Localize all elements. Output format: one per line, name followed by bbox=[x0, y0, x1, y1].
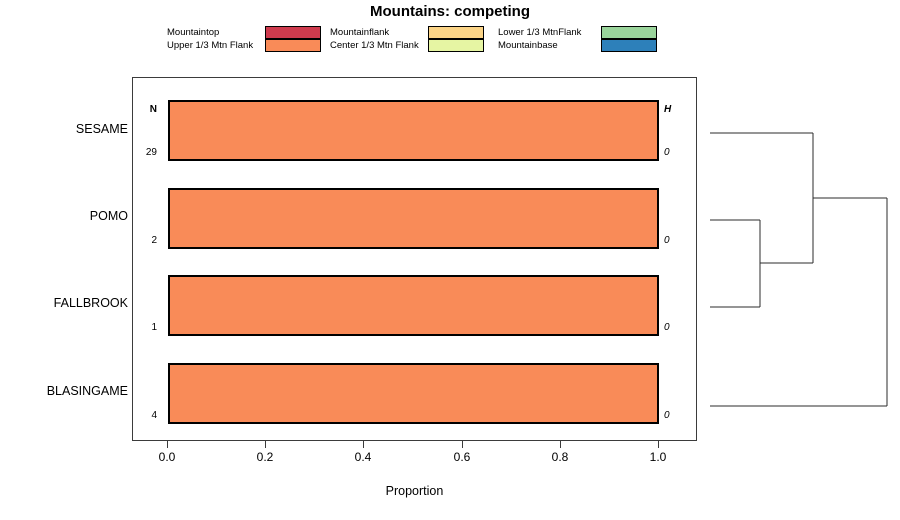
legend-column: Mountainflank Center 1/3 Mtn Flank bbox=[330, 26, 485, 54]
bar-row: N 29 H 0 bbox=[133, 100, 696, 161]
y-axis-label-fallbrook: FALLBROOK bbox=[8, 297, 128, 310]
x-axis-tick bbox=[363, 441, 364, 448]
x-axis-tick bbox=[265, 441, 266, 448]
legend-entry: Center 1/3 Mtn Flank bbox=[330, 39, 485, 52]
legend-entry: Upper 1/3 Mtn Flank bbox=[167, 39, 322, 52]
x-axis-title: Proportion bbox=[132, 484, 697, 498]
legend-entry: Mountaintop bbox=[167, 26, 322, 39]
x-axis-tick bbox=[462, 441, 463, 448]
row-n-value: 4 bbox=[151, 411, 157, 421]
legend-swatch-mountainbase bbox=[601, 39, 657, 52]
bar-sesame[interactable] bbox=[168, 100, 659, 161]
y-axis-label-blasingame: BLASINGAME bbox=[8, 385, 128, 398]
x-axis-tick-label: 0.8 bbox=[540, 450, 580, 464]
bar-row: 2 0 bbox=[133, 188, 696, 249]
x-axis: 0.0 0.2 0.4 0.6 0.8 1.0 bbox=[132, 441, 697, 471]
legend-entry: Mountainbase bbox=[498, 39, 658, 52]
x-axis-tick bbox=[167, 441, 168, 448]
x-axis-tick-label: 0.2 bbox=[245, 450, 285, 464]
x-axis-tick-label: 0.0 bbox=[147, 450, 187, 464]
y-axis-labels: SESAME POMO FALLBROOK BLASINGAME bbox=[4, 77, 128, 441]
bar-row: 4 0 bbox=[133, 363, 696, 424]
row-h-value: 0 bbox=[664, 148, 670, 158]
legend-label: Upper 1/3 Mtn Flank bbox=[167, 39, 253, 52]
legend-label: Mountainbase bbox=[498, 39, 558, 52]
x-axis-tick-label: 1.0 bbox=[638, 450, 678, 464]
legend-label: Lower 1/3 MtnFlank bbox=[498, 26, 581, 39]
row-h-value: 0 bbox=[664, 411, 670, 421]
row-n-value: 1 bbox=[151, 323, 157, 333]
dendrogram bbox=[700, 77, 900, 441]
legend-swatch-center-third-mtn-flank bbox=[428, 39, 484, 52]
legend-column: Mountaintop Upper 1/3 Mtn Flank bbox=[167, 26, 322, 54]
legend-column: Lower 1/3 MtnFlank Mountainbase bbox=[498, 26, 658, 54]
y-axis-label-pomo: POMO bbox=[8, 210, 128, 223]
legend-swatch-lower-third-mtnflank bbox=[601, 26, 657, 39]
legend-swatch-mountainflank bbox=[428, 26, 484, 39]
legend-label: Center 1/3 Mtn Flank bbox=[330, 39, 419, 52]
column-header-h: H bbox=[664, 105, 671, 115]
x-axis-tick-label: 0.4 bbox=[343, 450, 383, 464]
row-n-value: 29 bbox=[146, 148, 157, 158]
row-n-value: 2 bbox=[151, 236, 157, 246]
row-h-value: 0 bbox=[664, 236, 670, 246]
legend-swatch-upper-third-mtn-flank bbox=[265, 39, 321, 52]
bar-fallbrook[interactable] bbox=[168, 275, 659, 336]
page-title: Mountains: competing bbox=[0, 3, 900, 20]
legend-label: Mountainflank bbox=[330, 26, 389, 39]
legend-entry: Mountainflank bbox=[330, 26, 485, 39]
bar-blasingame[interactable] bbox=[168, 363, 659, 424]
legend-entry: Lower 1/3 MtnFlank bbox=[498, 26, 658, 39]
x-axis-tick bbox=[658, 441, 659, 448]
legend-label: Mountaintop bbox=[167, 26, 219, 39]
row-h-value: 0 bbox=[664, 323, 670, 333]
x-axis-tick-label: 0.6 bbox=[442, 450, 482, 464]
legend-swatch-mountaintop bbox=[265, 26, 321, 39]
bar-row: 1 0 bbox=[133, 275, 696, 336]
column-header-n: N bbox=[150, 105, 157, 115]
y-axis-label-sesame: SESAME bbox=[8, 123, 128, 136]
bar-pomo[interactable] bbox=[168, 188, 659, 249]
x-axis-tick bbox=[560, 441, 561, 448]
dendrogram-svg bbox=[700, 77, 900, 441]
plot-panel: N 29 H 0 2 0 1 0 4 0 bbox=[132, 77, 697, 441]
legend: Mountaintop Upper 1/3 Mtn Flank Mountain… bbox=[167, 26, 687, 54]
